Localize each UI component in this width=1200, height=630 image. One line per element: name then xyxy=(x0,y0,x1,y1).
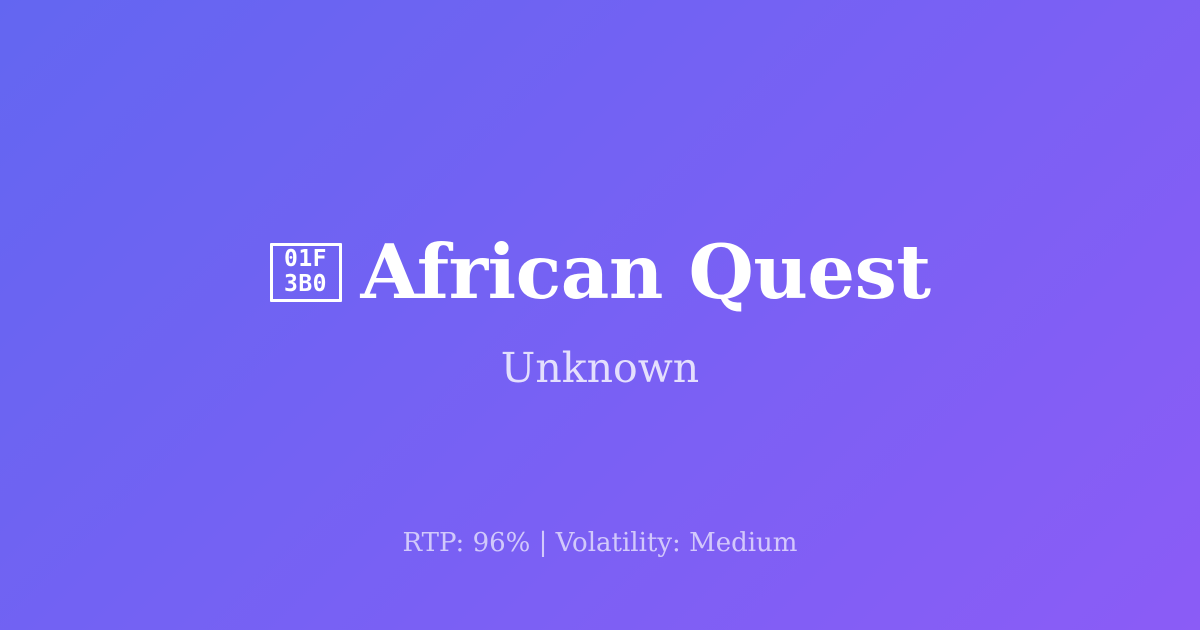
slot-machine-icon: 01F 3B0 xyxy=(270,243,342,302)
glyph-codepoint-top: 01F xyxy=(284,247,327,272)
og-share-card: 01F 3B0 African Quest Unknown RTP: 96% |… xyxy=(0,0,1200,630)
hero-block: 01F 3B0 African Quest Unknown xyxy=(0,232,1200,391)
page-title: African Quest xyxy=(361,232,931,312)
title-row: 01F 3B0 African Quest xyxy=(270,232,931,312)
page-subtitle: Unknown xyxy=(501,345,699,391)
game-stats-line: RTP: 96% | Volatility: Medium xyxy=(0,528,1200,558)
glyph-codepoint-bottom: 3B0 xyxy=(284,272,327,297)
